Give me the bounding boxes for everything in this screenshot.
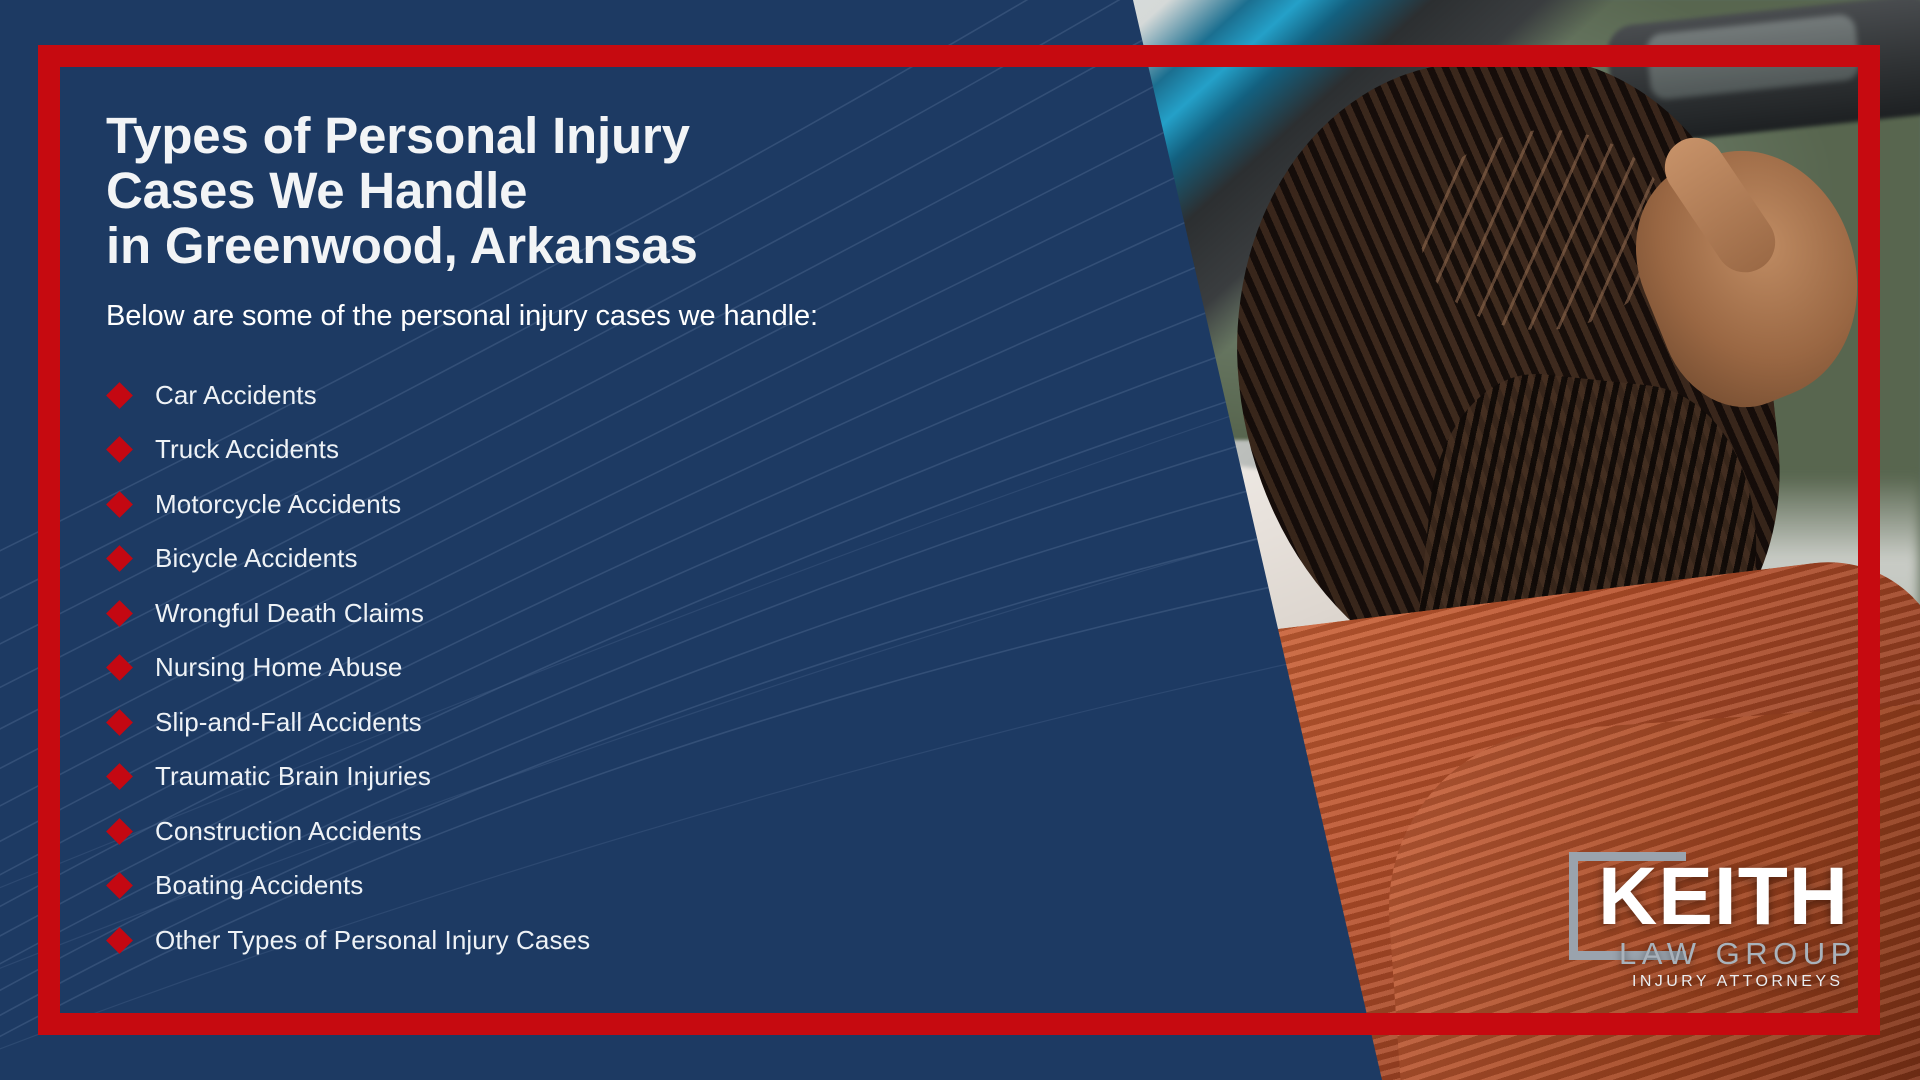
list-item: Motorcycle Accidents: [106, 477, 1046, 532]
list-item: Slip-and-Fall Accidents: [106, 695, 1046, 750]
diamond-bullet-icon: [106, 927, 133, 954]
list-item: Bicycle Accidents: [106, 532, 1046, 587]
list-item: Traumatic Brain Injuries: [106, 750, 1046, 805]
list-item-label: Boating Accidents: [155, 870, 363, 901]
list-item-label: Traumatic Brain Injuries: [155, 761, 431, 792]
case-types-list: Car Accidents Truck Accidents Motorcycle…: [106, 368, 1046, 968]
page-title-line-3: in Greenwood, Arkansas: [106, 218, 1046, 273]
subtitle: Below are some of the personal injury ca…: [106, 299, 1046, 334]
diamond-bullet-icon: [106, 763, 133, 790]
keith-law-group-logo: KEITH LAW GROUP INJURY ATTORNEYS: [1562, 846, 1882, 994]
list-item: Boating Accidents: [106, 859, 1046, 914]
list-item-label: Truck Accidents: [155, 434, 339, 465]
diamond-bullet-icon: [106, 818, 133, 845]
diamond-bullet-icon: [106, 382, 133, 409]
list-item: Construction Accidents: [106, 804, 1046, 859]
list-item: Nursing Home Abuse: [106, 641, 1046, 696]
logo-tagline: INJURY ATTORNEYS: [1632, 974, 1843, 990]
diamond-bullet-icon: [106, 491, 133, 518]
logo-subname: LAW GROUP: [1619, 938, 1857, 969]
list-item: Other Types of Personal Injury Cases: [106, 913, 1046, 968]
content-block: Types of Personal Injury Cases We Handle…: [106, 108, 1046, 968]
diamond-bullet-icon: [106, 545, 133, 572]
list-item: Car Accidents: [106, 368, 1046, 423]
diamond-bullet-icon: [106, 436, 133, 463]
list-item-label: Wrongful Death Claims: [155, 598, 424, 629]
list-item-label: Other Types of Personal Injury Cases: [155, 925, 590, 956]
diamond-bullet-icon: [106, 709, 133, 736]
page-title: Types of Personal Injury Cases We Handle…: [106, 108, 1046, 273]
list-item-label: Bicycle Accidents: [155, 543, 358, 574]
list-item-label: Slip-and-Fall Accidents: [155, 707, 422, 738]
page-title-line-2: Cases We Handle: [106, 163, 1046, 218]
banner-graphic: Types of Personal Injury Cases We Handle…: [0, 0, 1920, 1080]
diamond-bullet-icon: [106, 600, 133, 627]
list-item-label: Car Accidents: [155, 380, 317, 411]
list-item-label: Motorcycle Accidents: [155, 489, 401, 520]
list-item-label: Nursing Home Abuse: [155, 652, 402, 683]
diamond-bullet-icon: [106, 872, 133, 899]
list-item-label: Construction Accidents: [155, 816, 422, 847]
page-title-line-1: Types of Personal Injury: [106, 108, 1046, 163]
diamond-bullet-icon: [106, 654, 133, 681]
list-item: Wrongful Death Claims: [106, 586, 1046, 641]
list-item: Truck Accidents: [106, 423, 1046, 478]
logo-name: KEITH: [1598, 856, 1849, 938]
